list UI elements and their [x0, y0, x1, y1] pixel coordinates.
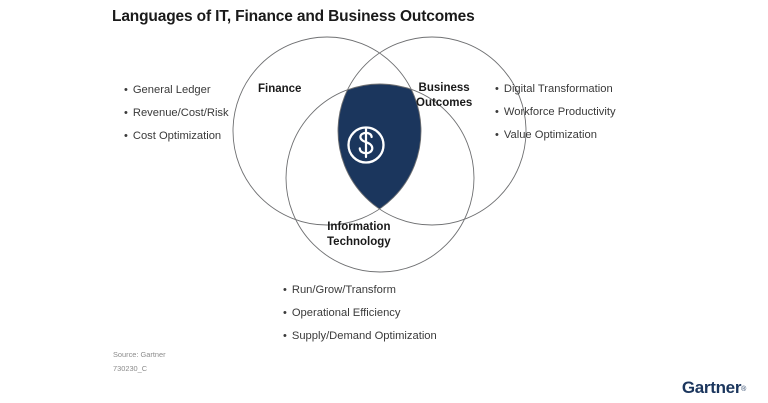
source-attribution: Source: Gartner: [113, 348, 166, 362]
bullet-icon: •: [495, 84, 499, 96]
list-item: • Cost Optimization: [124, 131, 229, 143]
list-item-label: General Ledger: [133, 85, 211, 97]
venn-label-information-technology: Information Technology: [327, 220, 391, 249]
list-item-label: Workforce Productivity: [504, 107, 616, 119]
venn-label-information-technology-line1: Information: [327, 220, 391, 235]
dollar-circle-icon: [349, 128, 384, 163]
bullet-icon: •: [283, 331, 287, 343]
venn-circle-finance: [233, 37, 421, 225]
gartner-logo-text: Gartner: [682, 378, 741, 397]
list-item-label: Digital Transformation: [504, 84, 613, 96]
bullet-icon: •: [124, 108, 128, 120]
list-item: • Workforce Productivity: [495, 107, 616, 119]
list-item: • General Ledger: [124, 85, 229, 97]
venn-label-business-outcomes: Business Outcomes: [416, 81, 472, 110]
bullet-icon: •: [124, 85, 128, 97]
venn-label-business-outcomes-line2: Outcomes: [416, 96, 472, 111]
list-item-label: Revenue/Cost/Risk: [133, 108, 229, 120]
venn-label-information-technology-line2: Technology: [327, 235, 391, 250]
bullet-list-business-outcomes: • Digital Transformation • Workforce Pro…: [495, 84, 616, 152]
venn-label-finance: Finance: [258, 82, 301, 97]
bullet-icon: •: [495, 107, 499, 119]
list-item: • Run/Grow/Transform: [283, 285, 437, 297]
source-document-id: 730230_C: [113, 362, 166, 376]
list-item: • Revenue/Cost/Risk: [124, 108, 229, 120]
list-item: • Value Optimization: [495, 130, 616, 142]
page-title: Languages of IT, Finance and Business Ou…: [112, 8, 475, 26]
list-item: • Operational Efficiency: [283, 308, 437, 320]
bullet-list-information-technology: • Run/Grow/Transform • Operational Effic…: [283, 285, 437, 353]
venn-label-business-outcomes-line1: Business: [416, 81, 472, 96]
bullet-list-finance: • General Ledger • Revenue/Cost/Risk • C…: [124, 85, 229, 153]
list-item-label: Cost Optimization: [133, 131, 221, 143]
gartner-logo: Gartner®: [682, 378, 746, 398]
bullet-icon: •: [283, 285, 287, 297]
list-item-label: Operational Efficiency: [292, 308, 401, 320]
list-item: • Supply/Demand Optimization: [283, 331, 437, 343]
bullet-icon: •: [124, 131, 128, 143]
list-item-label: Supply/Demand Optimization: [292, 331, 437, 343]
registered-trademark-icon: ®: [741, 386, 746, 393]
list-item: • Digital Transformation: [495, 84, 616, 96]
triple-overlap-region: [200, 20, 560, 320]
list-item-label: Run/Grow/Transform: [292, 285, 396, 297]
bullet-icon: •: [283, 308, 287, 320]
bullet-icon: •: [495, 130, 499, 142]
source-block: Source: Gartner 730230_C: [113, 348, 166, 375]
list-item-label: Value Optimization: [504, 130, 597, 142]
